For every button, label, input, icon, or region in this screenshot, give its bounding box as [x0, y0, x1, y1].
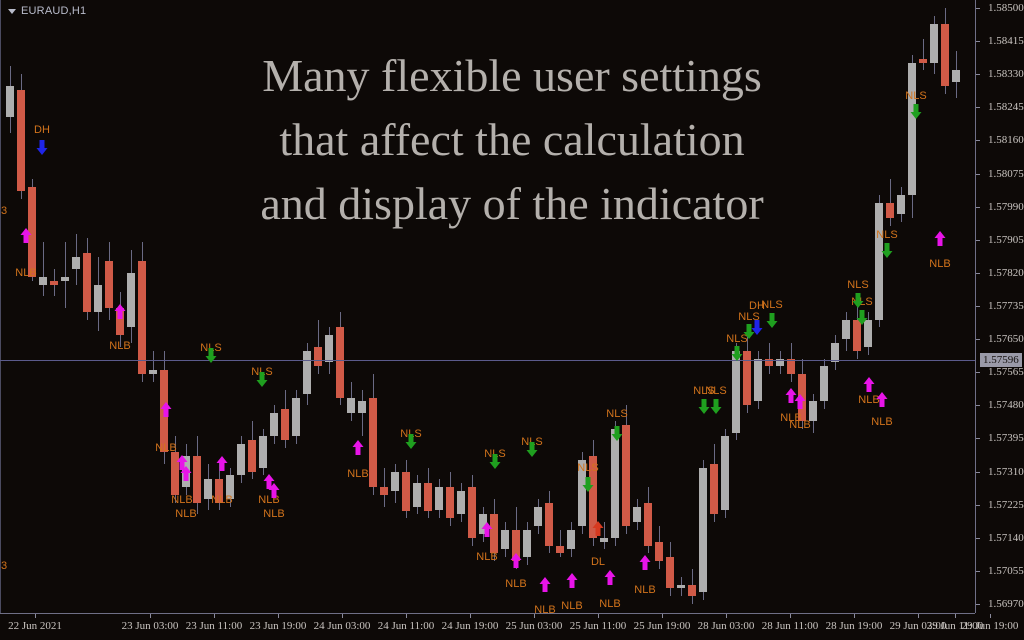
time-tick — [854, 614, 855, 618]
time-label: 24 Jun 19:00 — [442, 620, 499, 632]
signal-label-nlb: NLB — [211, 494, 232, 506]
candle-body — [523, 530, 531, 557]
candle-body — [809, 401, 817, 420]
time-label: 24 Jun 03:00 — [314, 620, 371, 632]
price-label: 1.57820 — [988, 267, 1024, 279]
price-label: 1.57395 — [988, 432, 1024, 444]
signal-arrow-down-nls — [852, 293, 864, 308]
time-label: 29 Jun 19:00 — [962, 620, 1019, 632]
price-tick — [976, 140, 980, 141]
candle-body — [391, 472, 399, 491]
candle-body — [281, 409, 289, 440]
price-tick — [976, 107, 980, 108]
signal-arrow-up-nlb — [268, 483, 280, 498]
candle-body — [567, 530, 575, 549]
candle-body — [270, 413, 278, 436]
signal-label-nlb: NLB — [15, 267, 36, 279]
time-tick — [406, 614, 407, 618]
signal-arrow-up-dl — [592, 521, 604, 536]
candle-body — [358, 401, 366, 413]
price-label: 1.57225 — [988, 499, 1024, 511]
candle-body — [556, 546, 564, 554]
candle-body — [149, 370, 157, 374]
candle-body — [732, 351, 740, 433]
candle-body — [897, 195, 905, 214]
candle-body — [446, 487, 454, 518]
candle-body — [303, 351, 311, 394]
chart-plot-area[interactable]: DHNLBNLBNLSNLSNLBNLBNLBNLBNLBNLBNLBNLSNL… — [0, 0, 975, 613]
signal-label-nlb: NLB — [871, 416, 892, 428]
signal-arrow-down-nls — [856, 310, 868, 325]
signal-label-dl: DL — [591, 556, 605, 568]
candle-body — [314, 347, 322, 366]
time-tick — [990, 614, 991, 618]
price-tick — [976, 571, 980, 572]
candle-body — [754, 359, 762, 402]
signal-arrow-up-nlb — [481, 522, 493, 537]
candle-body — [105, 261, 113, 308]
price-label: 1.58245 — [988, 101, 1024, 113]
price-label: 1.58415 — [988, 35, 1024, 47]
price-tick — [976, 339, 980, 340]
price-tick — [976, 240, 980, 241]
candle-wick — [65, 242, 66, 308]
time-tick — [342, 614, 343, 618]
signal-arrow-up-nlb — [876, 392, 888, 407]
signal-label-nlb: NLB — [347, 468, 368, 480]
time-label: 28 Jun 03:00 — [698, 620, 755, 632]
candle-body — [622, 425, 630, 526]
time-label: 24 Jun 11:00 — [378, 620, 434, 632]
signal-label-nlb: NLB — [789, 419, 810, 431]
price-tick — [976, 538, 980, 539]
price-label: 1.58075 — [988, 168, 1024, 180]
signal-arrow-down-nls — [710, 399, 722, 414]
candle-body — [94, 285, 102, 312]
candle-body — [72, 257, 80, 269]
candle-body — [424, 483, 432, 510]
bid-price-line — [0, 360, 975, 361]
signal-arrow-up-nlb — [794, 394, 806, 409]
signal-arrow-up-nlb — [639, 555, 651, 570]
price-scale[interactable]: 1.585001.584151.583301.582451.581601.580… — [976, 0, 1024, 613]
candle-wick — [604, 522, 605, 549]
candle-body — [248, 440, 256, 471]
candle-wick — [362, 390, 363, 437]
candle-body — [677, 585, 685, 589]
candle-body — [127, 273, 135, 328]
candle-body — [6, 86, 14, 117]
time-tick — [150, 614, 151, 618]
price-tick — [976, 372, 980, 373]
signal-label-nls: NLS — [847, 279, 868, 291]
signal-label-nlb: NLB — [599, 598, 620, 610]
signal-label-nls: NLS — [905, 90, 926, 102]
price-label: 1.57905 — [988, 234, 1024, 246]
signal-label-nlb: NLB — [929, 258, 950, 270]
signal-arrow-up-nlb — [20, 228, 32, 243]
candle-body — [193, 456, 201, 503]
signal-label-nlb: NLB — [155, 442, 176, 454]
time-tick — [278, 614, 279, 618]
clipped-label-left-lower: 3 — [1, 560, 7, 572]
signal-arrow-up-nlb — [863, 377, 875, 392]
candle-body — [435, 487, 443, 510]
signal-label-nlb: NLB — [476, 551, 497, 563]
candle-body — [611, 429, 619, 538]
candle-body — [644, 503, 652, 546]
price-tick — [976, 505, 980, 506]
candle-body — [292, 398, 300, 437]
signal-label-nls: NLS — [606, 408, 627, 420]
price-tick — [976, 604, 980, 605]
signal-arrow-down-nls — [910, 104, 922, 119]
candle-body — [743, 351, 751, 406]
signal-arrow-down-nls — [881, 243, 893, 258]
time-tick — [214, 614, 215, 618]
signal-arrow-up-nlb — [114, 304, 126, 319]
price-label: 1.57480 — [988, 399, 1024, 411]
signal-arrow-down-nls — [766, 313, 778, 328]
candle-body — [138, 261, 146, 374]
candle-body — [259, 436, 267, 467]
price-label: 1.57055 — [988, 565, 1024, 577]
signal-label-nls: NLS — [761, 299, 782, 311]
candle-body — [83, 253, 91, 311]
price-tick — [976, 174, 980, 175]
price-label: 1.57565 — [988, 366, 1024, 378]
price-tick — [976, 472, 980, 473]
candle-body — [886, 203, 894, 219]
signal-arrow-down-nls — [526, 442, 538, 457]
time-tick — [598, 614, 599, 618]
price-tick — [976, 438, 980, 439]
price-tick — [976, 41, 980, 42]
price-tick — [976, 306, 980, 307]
price-tick — [976, 405, 980, 406]
candle-body — [710, 464, 718, 515]
signal-label-nlb: NLB — [263, 508, 284, 520]
candle-body — [413, 483, 421, 506]
signal-arrow-down-nls — [582, 477, 594, 492]
time-label: 23 Jun 03:00 — [122, 620, 179, 632]
signal-arrow-down-nls — [205, 348, 217, 363]
candle-body — [501, 530, 509, 549]
candle-body — [336, 327, 344, 397]
candle-body — [402, 472, 410, 511]
symbol-label: EURAUD,H1 — [21, 5, 86, 17]
signal-arrow-up-nlb — [539, 577, 551, 592]
signal-label-nlb: NLB — [175, 508, 196, 520]
time-scale[interactable]: 22 Jun 202123 Jun 03:0023 Jun 11:0023 Ju… — [0, 614, 1024, 640]
candle-body — [941, 24, 949, 86]
candle-body — [820, 366, 828, 401]
signal-arrow-down-dh — [751, 320, 763, 335]
time-label: 25 Jun 19:00 — [634, 620, 691, 632]
candle-body — [468, 487, 476, 538]
time-label: 22 Jun 2021 — [8, 620, 62, 632]
signal-arrow-down-dh — [36, 140, 48, 155]
price-label: 1.57310 — [988, 466, 1024, 478]
candle-body — [39, 277, 47, 285]
signal-arrow-up-nlb — [510, 553, 522, 568]
time-tick — [662, 614, 663, 618]
time-tick — [918, 614, 919, 618]
candle-body — [457, 491, 465, 514]
candle-body — [237, 444, 245, 475]
time-tick — [955, 614, 956, 618]
signal-label-nls: NLS — [577, 462, 598, 474]
candle-body — [50, 281, 58, 285]
chart-window: DHNLBNLBNLSNLSNLBNLBNLBNLBNLBNLBNLBNLSNL… — [0, 0, 1024, 640]
signal-label-dh: DH — [34, 124, 50, 136]
candle-wick — [923, 39, 924, 70]
price-label: 1.57735 — [988, 300, 1024, 312]
price-tick — [976, 74, 980, 75]
candle-body — [600, 538, 608, 542]
clipped-label-left: 3 — [1, 205, 7, 217]
signal-arrow-down-nls — [611, 426, 623, 441]
candle-body — [534, 507, 542, 526]
triangle-down-icon[interactable] — [8, 9, 16, 14]
candle-body — [699, 468, 707, 593]
time-label: 23 Jun 11:00 — [186, 620, 242, 632]
signal-arrow-up-nlb — [352, 440, 364, 455]
price-label: 1.57650 — [988, 333, 1024, 345]
signal-label-nls: NLS — [705, 385, 726, 397]
signal-arrow-up-nlb — [180, 466, 192, 481]
current-price-label: 1.57596 — [980, 353, 1022, 367]
signal-arrow-down-nls — [698, 399, 710, 414]
signal-arrow-up-nlb — [566, 573, 578, 588]
signal-arrow-down-nls — [489, 454, 501, 469]
candle-body — [842, 320, 850, 339]
candle-body — [875, 203, 883, 320]
time-label: 23 Jun 19:00 — [250, 620, 307, 632]
time-label: 25 Jun 11:00 — [570, 620, 626, 632]
signal-arrow-down-nls — [731, 346, 743, 361]
time-tick — [790, 614, 791, 618]
candle-body — [545, 503, 553, 546]
price-tick — [976, 8, 980, 9]
signal-arrow-up-nlb — [934, 231, 946, 246]
candle-body — [655, 542, 663, 561]
candle-body — [369, 398, 377, 488]
candle-body — [919, 59, 927, 63]
signal-label-nlb: NLB — [534, 604, 555, 613]
candle-wick — [43, 242, 44, 297]
chart-left-border — [0, 0, 1, 613]
symbol-header[interactable]: EURAUD,H1 — [8, 5, 86, 17]
candle-body — [688, 585, 696, 597]
time-label: 28 Jun 19:00 — [826, 620, 883, 632]
price-label: 1.58330 — [988, 68, 1024, 80]
time-tick — [35, 614, 36, 618]
candle-body — [952, 70, 960, 82]
candle-body — [325, 335, 333, 362]
signal-arrow-up-nlb — [160, 402, 172, 417]
signal-label-nlb: NLB — [109, 340, 130, 352]
price-label: 1.58500 — [988, 2, 1024, 14]
price-tick — [976, 273, 980, 274]
signal-label-nls: NLS — [876, 229, 897, 241]
candle-body — [347, 398, 355, 414]
candle-body — [666, 557, 674, 588]
time-label: 28 Jun 11:00 — [762, 620, 818, 632]
signal-arrow-down-nls — [405, 434, 417, 449]
time-tick — [470, 614, 471, 618]
signal-arrow-down-nls — [256, 372, 268, 387]
price-tick — [976, 207, 980, 208]
price-label: 1.58160 — [988, 134, 1024, 146]
signal-label-nlb: NLB — [505, 578, 526, 590]
candle-body — [61, 277, 69, 281]
candle-wick — [153, 351, 154, 382]
price-label: 1.57990 — [988, 201, 1024, 213]
time-label: 25 Jun 03:00 — [506, 620, 563, 632]
candle-body — [721, 436, 729, 510]
candle-body — [930, 24, 938, 63]
time-tick — [534, 614, 535, 618]
signal-arrow-up-nlb — [604, 570, 616, 585]
price-label: 1.56970 — [988, 598, 1024, 610]
candle-body — [908, 63, 916, 195]
price-label: 1.57140 — [988, 532, 1024, 544]
signal-label-nlb: NLB — [561, 600, 582, 612]
signal-label-nlb: NLB — [634, 584, 655, 596]
candle-body — [380, 487, 388, 495]
time-tick — [726, 614, 727, 618]
candle-body — [633, 507, 641, 523]
signal-label-nlb: NLB — [171, 494, 192, 506]
signal-arrow-up-nlb — [216, 456, 228, 471]
candle-body — [17, 90, 25, 191]
